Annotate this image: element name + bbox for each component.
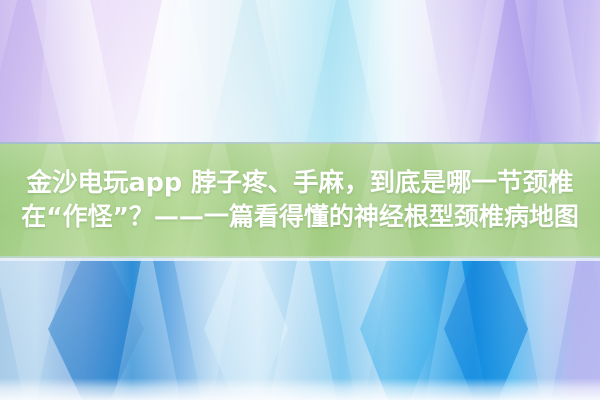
banner-title: 金沙电玩app 脖子疼、手麻，到底是哪一节颈椎 在“作怪”？——一篇看得懂的神经… bbox=[0, 142, 600, 258]
top-band-color-tint bbox=[0, 0, 600, 142]
bottom-band-top-edge bbox=[0, 258, 600, 261]
banner-title-line-1: 金沙电玩app 脖子疼、手麻，到底是哪一节颈椎 bbox=[2, 166, 598, 200]
bottom-decorative-band bbox=[0, 258, 600, 400]
decorative-banner: 金沙电玩app 脖子疼、手麻，到底是哪一节颈椎 在“作怪”？——一篇看得懂的神经… bbox=[0, 0, 600, 400]
bottom-band-white-fade bbox=[0, 378, 600, 400]
banner-title-line-2: 在“作怪”？——一篇看得懂的神经根型颈椎病地图 bbox=[2, 200, 598, 234]
top-decorative-band bbox=[0, 0, 600, 142]
